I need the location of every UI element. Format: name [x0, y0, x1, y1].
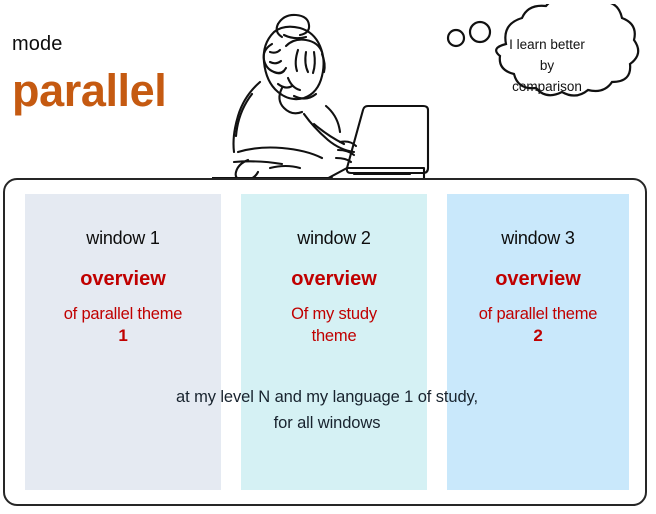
thought-bubble-line-3: comparison — [444, 76, 650, 97]
window-column-3-content: window 3 overview of parallel theme 2 — [447, 194, 629, 347]
window-1-heading: overview — [25, 268, 221, 290]
thought-bubble-line-1: I learn better — [444, 34, 650, 55]
header: mode parallel — [0, 0, 656, 178]
window-1-subtitle-text: of parallel theme — [64, 305, 183, 323]
window-3-heading: overview — [447, 268, 629, 290]
window-3-number: 2 — [533, 326, 542, 345]
thought-bubble: I learn better by comparison — [444, 4, 650, 130]
window-column-2-content: window 2 overview Of my study theme — [241, 194, 427, 347]
window-column-1[interactable]: window 1 overview of parallel theme 1 — [25, 194, 221, 490]
window-2-number: theme — [312, 327, 357, 345]
window-2-subtitle-text: Of my study — [291, 305, 377, 323]
window-2-heading: overview — [241, 268, 427, 290]
mode-panel: window 1 overview of parallel theme 1 wi… — [3, 178, 647, 506]
window-3-subtitle: of parallel theme 2 — [447, 303, 629, 347]
window-column-3[interactable]: window 3 overview of parallel theme 2 — [447, 194, 629, 490]
window-column-1-content: window 1 overview of parallel theme 1 — [25, 194, 221, 347]
window-2-title: window 2 — [241, 229, 427, 249]
window-1-number: 1 — [118, 326, 127, 345]
mode-label: mode — [12, 34, 62, 54]
person-studying-icon — [212, 2, 452, 178]
window-1-title: window 1 — [25, 229, 221, 249]
window-3-title: window 3 — [447, 229, 629, 249]
window-2-subtitle: Of my study theme — [241, 303, 427, 347]
windows-row: window 1 overview of parallel theme 1 wi… — [5, 180, 649, 508]
window-3-subtitle-text: of parallel theme — [479, 305, 598, 323]
person-studying-illustration-svg — [212, 2, 452, 178]
window-1-subtitle: of parallel theme 1 — [25, 303, 221, 347]
mode-value: parallel — [12, 68, 166, 113]
thought-bubble-text: I learn better by comparison — [444, 34, 650, 97]
thought-bubble-line-2: by — [444, 55, 650, 76]
window-column-2[interactable]: window 2 overview Of my study theme — [241, 194, 427, 490]
